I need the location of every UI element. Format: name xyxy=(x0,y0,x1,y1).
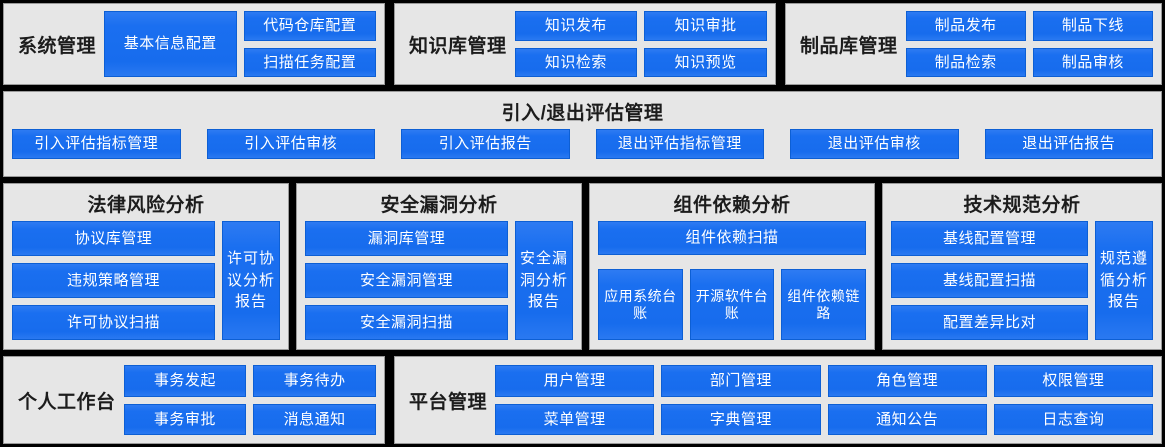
panel-knowledge-base-management: 知识库管理 知识发布 知识检索 知识审批 知识预览 xyxy=(394,3,776,85)
button-menu-management[interactable]: 菜单管理 xyxy=(495,404,654,436)
panel-title-knowledge-base-management: 知识库管理 xyxy=(395,31,515,58)
button-basic-info-config[interactable]: 基本信息配置 xyxy=(104,11,237,77)
button-exit-evaluation-report[interactable]: 退出评估报告 xyxy=(985,129,1154,159)
button-security-vulnerability-management[interactable]: 安全漏洞管理 xyxy=(305,263,508,298)
button-task-todo[interactable]: 事务待办 xyxy=(253,365,376,397)
button-role-management[interactable]: 角色管理 xyxy=(828,365,987,397)
button-knowledge-search[interactable]: 知识检索 xyxy=(515,48,638,78)
panel-artifact-repository-management: 制品库管理 制品发布 制品检索 制品下线 制品审核 xyxy=(785,3,1162,85)
button-log-query[interactable]: 日志查询 xyxy=(994,404,1153,436)
button-notice-announcement[interactable]: 通知公告 xyxy=(828,404,987,436)
knowledge-column-2: 知识审批 知识预览 xyxy=(644,11,767,77)
button-license-agreement-scan[interactable]: 许可协议扫描 xyxy=(12,305,215,340)
button-exit-evaluation-audit[interactable]: 退出评估审核 xyxy=(790,129,959,159)
button-knowledge-publish[interactable]: 知识发布 xyxy=(515,11,638,41)
button-intro-evaluation-audit[interactable]: 引入评估审核 xyxy=(207,129,376,159)
legal-risk-report-column: 许可协议分析报告 xyxy=(222,221,280,340)
platform-column-2: 部门管理 字典管理 xyxy=(661,365,820,435)
technical-button-group: 基线配置管理 基线配置扫描 配置差异比对 规范遵循分析报告 xyxy=(883,221,1161,349)
platform-column-4: 权限管理 日志查询 xyxy=(994,365,1153,435)
panel-title-component-dependency-analysis: 组件依赖分析 xyxy=(590,184,874,221)
legal-risk-button-column: 协议库管理 违规策略管理 许可协议扫描 xyxy=(12,221,215,340)
component-button-group: 组件依赖扫描 应用系统台账 开源软件台账 组件依赖链路 xyxy=(590,221,874,349)
panel-security-vulnerability-analysis: 安全漏洞分析 漏洞库管理 安全漏洞管理 安全漏洞扫描 安全漏洞分析报告 xyxy=(296,183,582,350)
system-management-button-group: 基本信息配置 代码仓库配置 扫描任务配置 xyxy=(104,4,384,84)
panel-title-legal-risk-analysis: 法律风险分析 xyxy=(4,184,288,221)
button-component-dependency-chain[interactable]: 组件依赖链路 xyxy=(781,269,866,340)
platform-column-3: 角色管理 通知公告 xyxy=(828,365,987,435)
button-user-management[interactable]: 用户管理 xyxy=(495,365,654,397)
button-code-repo-config[interactable]: 代码仓库配置 xyxy=(244,11,377,41)
button-vulnerability-repo-management[interactable]: 漏洞库管理 xyxy=(305,221,508,256)
panel-component-dependency-analysis: 组件依赖分析 组件依赖扫描 应用系统台账 开源软件台账 组件依赖链路 xyxy=(589,183,875,350)
button-artifact-offline[interactable]: 制品下线 xyxy=(1033,11,1153,41)
button-knowledge-preview[interactable]: 知识预览 xyxy=(644,48,767,78)
knowledge-base-button-group: 知识发布 知识检索 知识审批 知识预览 xyxy=(515,4,775,84)
panel-personal-workbench: 个人工作台 事务发起 事务审批 事务待办 消息通知 xyxy=(3,356,385,444)
button-intro-evaluation-report[interactable]: 引入评估报告 xyxy=(401,129,570,159)
button-artifact-audit[interactable]: 制品审核 xyxy=(1033,48,1153,78)
button-security-vulnerability-scan[interactable]: 安全漏洞扫描 xyxy=(305,305,508,340)
button-violation-policy-management[interactable]: 违规策略管理 xyxy=(12,263,215,298)
artifact-column-2: 制品下线 制品审核 xyxy=(1033,11,1153,77)
workbench-button-group: 事务发起 事务审批 事务待办 消息通知 xyxy=(124,357,384,443)
button-scan-task-config[interactable]: 扫描任务配置 xyxy=(244,48,377,78)
technical-report-column: 规范遵循分析报告 xyxy=(1095,221,1153,340)
panel-title-personal-workbench: 个人工作台 xyxy=(4,387,124,414)
platform-column-1: 用户管理 菜单管理 xyxy=(495,365,654,435)
button-message-notification[interactable]: 消息通知 xyxy=(253,404,376,436)
knowledge-column-1: 知识发布 知识检索 xyxy=(515,11,638,77)
button-task-approval[interactable]: 事务审批 xyxy=(124,404,247,436)
panel-title-system-management: 系统管理 xyxy=(4,31,104,58)
architecture-diagram-canvas: 系统管理 基本信息配置 代码仓库配置 扫描任务配置 知识库管理 知识发布 知识检… xyxy=(0,0,1165,447)
button-department-management[interactable]: 部门管理 xyxy=(661,365,820,397)
panel-title-artifact-repository-management: 制品库管理 xyxy=(786,31,906,58)
button-dictionary-management[interactable]: 字典管理 xyxy=(661,404,820,436)
security-button-group: 漏洞库管理 安全漏洞管理 安全漏洞扫描 安全漏洞分析报告 xyxy=(297,221,581,349)
evaluation-button-group: 引入评估指标管理 引入评估审核 引入评估报告 退出评估指标管理 退出评估审核 退… xyxy=(4,129,1161,168)
security-button-column: 漏洞库管理 安全漏洞管理 安全漏洞扫描 xyxy=(305,221,508,340)
button-license-analysis-report[interactable]: 许可协议分析报告 xyxy=(222,221,280,340)
button-config-difference-comparison[interactable]: 配置差异比对 xyxy=(891,305,1088,340)
panel-system-management: 系统管理 基本信息配置 代码仓库配置 扫描任务配置 xyxy=(3,3,385,85)
panel-evaluation-management: 引入/退出评估管理 引入评估指标管理 引入评估审核 引入评估报告 退出评估指标管… xyxy=(3,91,1162,177)
button-baseline-config-management[interactable]: 基线配置管理 xyxy=(891,221,1088,256)
security-report-column: 安全漏洞分析报告 xyxy=(515,221,573,340)
button-license-repo-management[interactable]: 协议库管理 xyxy=(12,221,215,256)
button-component-dependency-scan[interactable]: 组件依赖扫描 xyxy=(598,221,866,255)
panel-legal-risk-analysis: 法律风险分析 协议库管理 违规策略管理 许可协议扫描 许可协议分析报告 xyxy=(3,183,289,350)
button-artifact-search[interactable]: 制品检索 xyxy=(906,48,1026,78)
panel-title-technical-specification-analysis: 技术规范分析 xyxy=(883,184,1161,221)
technical-button-column: 基线配置管理 基线配置扫描 配置差异比对 xyxy=(891,221,1088,340)
panel-title-platform-management: 平台管理 xyxy=(395,387,495,414)
panel-title-evaluation-management: 引入/退出评估管理 xyxy=(4,92,1161,129)
workbench-column-2: 事务待办 消息通知 xyxy=(253,365,376,435)
panel-title-security-vulnerability-analysis: 安全漏洞分析 xyxy=(297,184,581,221)
legal-risk-button-group: 协议库管理 违规策略管理 许可协议扫描 许可协议分析报告 xyxy=(4,221,288,349)
button-application-system-ledger[interactable]: 应用系统台账 xyxy=(598,269,683,340)
component-ledger-row: 应用系统台账 开源软件台账 组件依赖链路 xyxy=(598,269,866,340)
button-artifact-publish[interactable]: 制品发布 xyxy=(906,11,1026,41)
artifact-column-1: 制品发布 制品检索 xyxy=(906,11,1026,77)
component-scan-row: 组件依赖扫描 xyxy=(598,221,866,255)
system-management-column-1: 基本信息配置 xyxy=(104,11,237,77)
artifact-button-group: 制品发布 制品检索 制品下线 制品审核 xyxy=(906,4,1161,84)
workbench-column-1: 事务发起 事务审批 xyxy=(124,365,247,435)
panel-platform-management: 平台管理 用户管理 菜单管理 部门管理 字典管理 角色管理 通知公告 权限管理 … xyxy=(394,356,1162,444)
button-knowledge-approval[interactable]: 知识审批 xyxy=(644,11,767,41)
button-baseline-config-scan[interactable]: 基线配置扫描 xyxy=(891,263,1088,298)
button-exit-evaluation-indicator-management[interactable]: 退出评估指标管理 xyxy=(596,129,765,159)
button-specification-compliance-analysis-report[interactable]: 规范遵循分析报告 xyxy=(1095,221,1153,340)
system-management-column-2: 代码仓库配置 扫描任务配置 xyxy=(244,11,377,77)
button-open-source-software-ledger[interactable]: 开源软件台账 xyxy=(690,269,775,340)
button-permission-management[interactable]: 权限管理 xyxy=(994,365,1153,397)
button-security-vulnerability-analysis-report[interactable]: 安全漏洞分析报告 xyxy=(515,221,573,340)
panel-technical-specification-analysis: 技术规范分析 基线配置管理 基线配置扫描 配置差异比对 规范遵循分析报告 xyxy=(882,183,1162,350)
button-task-initiate[interactable]: 事务发起 xyxy=(124,365,247,397)
button-intro-evaluation-indicator-management[interactable]: 引入评估指标管理 xyxy=(12,129,181,159)
platform-button-group: 用户管理 菜单管理 部门管理 字典管理 角色管理 通知公告 权限管理 日志查询 xyxy=(495,357,1161,443)
